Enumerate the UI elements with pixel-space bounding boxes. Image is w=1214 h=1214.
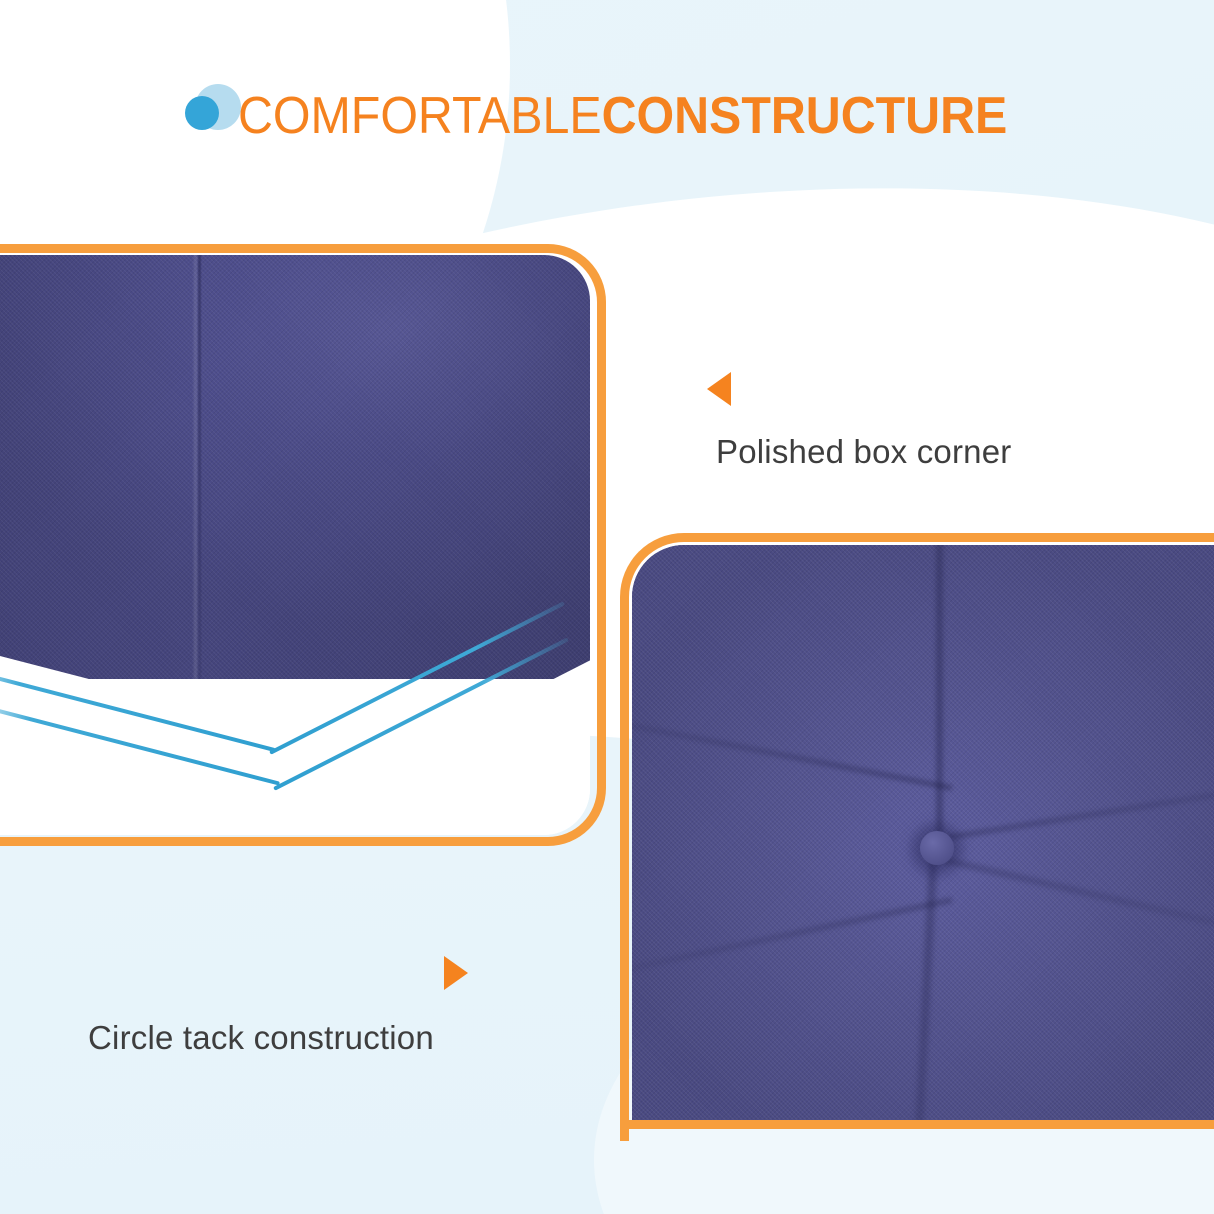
- callout-polished-box-corner-label: Polished box corner: [716, 433, 1011, 471]
- page-title-light: COMFORTABLE: [238, 87, 602, 145]
- header: COMFORTABLECONSTRUCTURE: [0, 76, 1214, 156]
- triangle-right-icon: [444, 956, 468, 990]
- page-title: COMFORTABLECONSTRUCTURE: [238, 90, 1007, 142]
- infographic-canvas: COMFORTABLECONSTRUCTURE: [0, 0, 1214, 1214]
- callout-circle-tack-label: Circle tack construction: [88, 1019, 434, 1057]
- triangle-left-icon: [707, 372, 731, 406]
- panel-circle-tack-border-bottom: [620, 1120, 1214, 1150]
- callout-circle-tack-marker: [444, 956, 468, 990]
- page-title-bold: CONSTRUCTURE: [602, 87, 1008, 145]
- panel-circle-tack-border: [620, 533, 1214, 1141]
- callout-polished-box-corner-marker: [707, 372, 731, 406]
- panel-box-corner-border: [0, 244, 606, 846]
